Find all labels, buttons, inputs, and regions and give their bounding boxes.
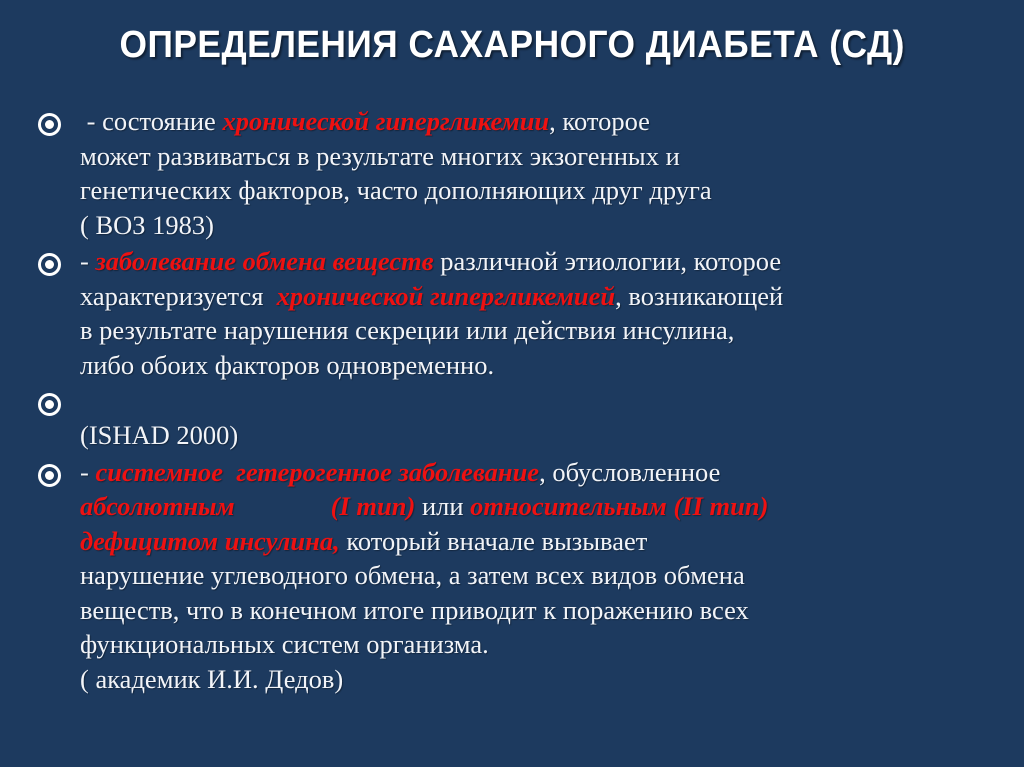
bullet-line [80, 384, 1010, 418]
bullet-line: в результате нарушения секреции или дейс… [80, 313, 1010, 348]
bullet-line: - состояние хронической гипергликемии, к… [80, 104, 1010, 139]
bullet-line: либо обоих факторов одновременно. [80, 348, 1010, 383]
bullet-line: абсолютным (I тип) или относительным (II… [80, 489, 1010, 524]
bullet-line: нарушение углеводного обмена, а затем вс… [80, 558, 1010, 593]
emphasized-text: хронической гипергликемией [277, 281, 616, 311]
bullet-line: веществ, что в конечном итоге приводит к… [80, 593, 1010, 628]
body-text: функциональных систем организма. [80, 629, 489, 659]
bullet-item-definition-ishad-source: (ISHAD 2000) [0, 384, 1024, 453]
page-title: ОПРЕДЕЛЕНИЯ САХАРНОГО ДИАБЕТА (СД) [119, 22, 904, 68]
emphasized-text: хронической гипергликемии [222, 106, 549, 136]
emphasized-text: системное гетерогенное заболевание [95, 457, 539, 487]
bullet-item-definition-who: - состояние хронической гипергликемии, к… [0, 104, 1024, 242]
title-area: ОПРЕДЕЛЕНИЯ САХАРНОГО ДИАБЕТА (СД) [0, 22, 1024, 68]
body-text: ( ВОЗ 1983) [80, 210, 214, 240]
emphasized-text: абсолютным [80, 491, 235, 521]
body-text: либо обоих факторов одновременно. [80, 350, 494, 380]
bullet-line: ( ВОЗ 1983) [80, 208, 1010, 243]
text-gap-spacer [235, 489, 331, 524]
bullet-line: функциональных систем организма. [80, 627, 1010, 662]
body-text: (ISHAD 2000) [80, 420, 238, 450]
bullet-line: генетических факторов, часто дополняющих… [80, 173, 1010, 208]
bullseye-bullet-icon [38, 464, 61, 487]
slide-body: - состояние хронической гипергликемии, к… [0, 104, 1024, 698]
slide-root: ОПРЕДЕЛЕНИЯ САХАРНОГО ДИАБЕТА (СД) - сос… [0, 0, 1024, 767]
bullseye-bullet-icon [38, 113, 61, 136]
bullet-line: характеризуется хронической гипергликеми… [80, 279, 1010, 314]
body-text: , возникающей [615, 281, 783, 311]
bullet-line: - заболевание обмена веществ различной э… [80, 244, 1010, 279]
body-text: - [80, 457, 95, 487]
bullseye-bullet-icon [38, 393, 61, 416]
body-text: может развиваться в результате многих эк… [80, 141, 680, 171]
body-text: который вначале вызывает [340, 526, 648, 556]
bullet-item-definition-metabolic: - заболевание обмена веществ различной э… [0, 244, 1024, 382]
emphasized-text: дефицитом инсулина, [80, 526, 340, 556]
body-text: - состояние [80, 106, 222, 136]
body-text: веществ, что в конечном итоге приводит к… [80, 595, 749, 625]
bullet-item-definition-dedov: - системное гетерогенное заболевание, об… [0, 455, 1024, 697]
emphasized-text: относительным (II тип) [470, 491, 768, 521]
bullet-line: может развиваться в результате многих эк… [80, 139, 1010, 174]
body-text: ( академик И.И. Дедов) [80, 664, 343, 694]
body-text: , обусловленное [539, 457, 720, 487]
body-text: в результате нарушения секреции или дейс… [80, 315, 734, 345]
body-text: - [80, 246, 95, 276]
body-text: генетических факторов, часто дополняющих… [80, 175, 712, 205]
bullet-line: - системное гетерогенное заболевание, об… [80, 455, 1010, 490]
body-text: нарушение углеводного обмена, а затем вс… [80, 560, 745, 590]
emphasized-text: (I тип) [331, 491, 416, 521]
body-text: , которое [549, 106, 650, 136]
emphasized-text: заболевание обмена веществ [95, 246, 433, 276]
bullet-line: ( академик И.И. Дедов) [80, 662, 1010, 697]
body-text: или [415, 491, 470, 521]
bullet-line: дефицитом инсулина, который вначале вызы… [80, 524, 1010, 559]
bullet-line: (ISHAD 2000) [80, 418, 1010, 453]
bullseye-bullet-icon [38, 253, 61, 276]
body-text: различной этиологии, которое [434, 246, 782, 276]
body-text: характеризуется [80, 281, 277, 311]
